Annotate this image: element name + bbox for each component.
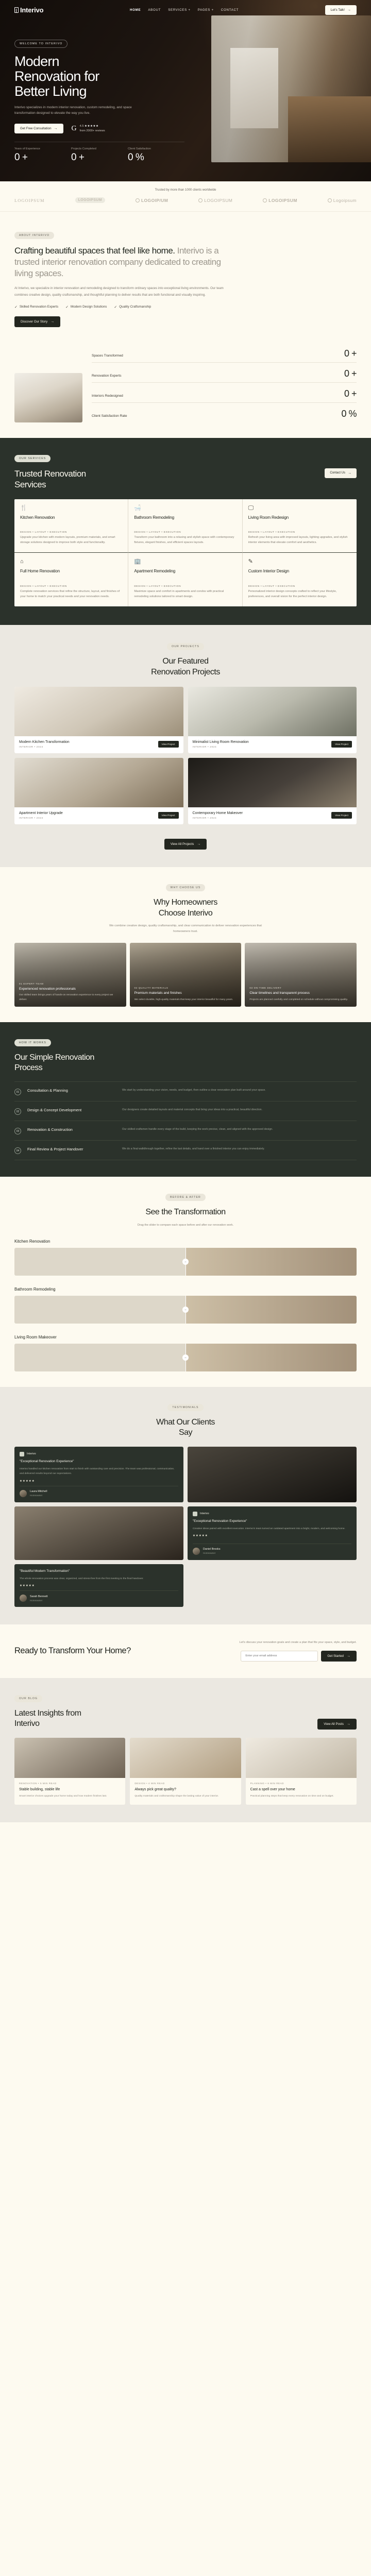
why-card-desc: Our skilled team brings years of hands-o… xyxy=(19,993,122,1002)
projects-tag: OUR PROJECTS xyxy=(167,643,204,650)
counter-row: Renovation Experts 0 + xyxy=(92,363,357,383)
counter-label: Renovation Experts xyxy=(92,374,122,378)
check-icon: ✓ xyxy=(65,305,69,309)
consultation-label: Get Free Consultation xyxy=(20,127,52,130)
stat-projects: Projects Completed 0 + xyxy=(71,147,128,163)
arrow-right-icon: → xyxy=(348,471,351,475)
step-desc: Our skilled craftsmen handle every stage… xyxy=(122,1127,357,1132)
service-title: Bathroom Remodeling xyxy=(134,515,236,520)
why-card-title: Experienced renovation professionals xyxy=(19,987,122,992)
email-input[interactable] xyxy=(241,1651,318,1662)
author-name: Laura Mitchell xyxy=(30,1490,47,1493)
check-item: ✓Skilled Renovation Experts xyxy=(14,305,58,309)
testimonial-quote: "Exceptional Renovation Experience" xyxy=(20,1460,178,1464)
client-logo: LOGOIPSUM xyxy=(14,198,45,203)
blog-desc: Smart interior choices upgrade your home… xyxy=(19,1794,121,1799)
nav-item-services[interactable]: SERVICES + xyxy=(168,8,191,12)
counter-value: 0 % xyxy=(341,409,357,419)
why-lead: We combine creative design, quality craf… xyxy=(100,923,271,935)
arrow-right-icon: → xyxy=(347,1654,350,1658)
arrow-right-icon: → xyxy=(54,127,58,130)
google-icon: G xyxy=(72,125,77,132)
project-title: Modern Kitchen Transformation xyxy=(19,740,70,744)
about-tag: ABOUT INTERIVO xyxy=(14,232,54,239)
stat-label: Client Satisfaction xyxy=(128,147,184,150)
counter-label: Spaces Transformed xyxy=(92,354,123,358)
service-desc: Transform your bathroom into a relaxing … xyxy=(134,535,236,546)
before-after-slider[interactable]: ↔ xyxy=(14,1344,357,1371)
client-logos-section: Trusted by more than 1000 clients worldw… xyxy=(0,181,371,211)
rating-caption: from 2000+ reviews xyxy=(80,129,105,133)
step-number: 02 xyxy=(14,1108,21,1115)
service-title: Living Room Redesign xyxy=(248,515,351,520)
bathtub-icon: 🛁 xyxy=(134,505,236,511)
hero-title-line-3: Better Living xyxy=(14,83,87,99)
stat-years: Years of Experience 0 + xyxy=(14,147,71,163)
service-desc: Personalized interior design concepts cr… xyxy=(248,589,351,600)
monitor-icon: 🖵 xyxy=(248,505,351,511)
project-meta: INTERIOR • 2024 xyxy=(19,745,70,748)
blog-desc: Practical planning steps that keep every… xyxy=(250,1794,352,1799)
testimonial-quote: "Beautiful Modern Transformation" xyxy=(20,1569,178,1574)
hero-eyebrow: WELCOME TO INTERIVO xyxy=(14,40,68,48)
view-all-projects-button[interactable]: View All Projects → xyxy=(164,839,207,850)
service-card-full-home-renovation[interactable]: ⌂ Full Home Renovation DESIGN • LAYOUT •… xyxy=(14,553,128,606)
testimonial-text: The whole renovation process was clear, … xyxy=(20,1577,178,1582)
testimonial-stars: ★★★★★ xyxy=(193,1534,351,1537)
project-image xyxy=(14,687,183,736)
arrow-right-icon: → xyxy=(347,8,351,12)
testimonial-card: Interivo "Exceptional Renovation Experie… xyxy=(188,1506,357,1560)
project-image xyxy=(188,758,357,807)
nav-item-pages[interactable]: PAGES + xyxy=(198,8,214,12)
about-checklist: ✓Skilled Renovation Experts ✓Modern Desi… xyxy=(14,305,357,309)
circle-icon xyxy=(263,198,267,202)
brand-mark-icon xyxy=(20,1452,24,1456)
step-number: 01 xyxy=(14,1089,21,1095)
step-number: 03 xyxy=(14,1128,21,1134)
step-number: 04 xyxy=(14,1147,21,1154)
view-all-posts-button[interactable]: View All Posts → xyxy=(317,1719,357,1730)
cutlery-icon: 🍴 xyxy=(20,505,122,511)
transform-tag: BEFORE & AFTER xyxy=(165,1194,206,1201)
blog-image xyxy=(130,1738,241,1778)
testimonial-text: Interivo handled our kitchen renovation … xyxy=(20,1467,178,1477)
service-desc: Upgrade your kitchen with modern layouts… xyxy=(20,535,122,546)
discover-our-story-button[interactable]: Discover Our Story → xyxy=(14,316,60,327)
nav-item-about[interactable]: ABOUT xyxy=(148,8,161,12)
process-step: 03 Renovation & Construction Our skilled… xyxy=(14,1121,357,1140)
circle-icon xyxy=(198,198,203,202)
service-meta: DESIGN • LAYOUT • EXECUTION xyxy=(248,585,351,587)
blog-card[interactable]: RENOVATION • 5 MIN READ Stable building,… xyxy=(14,1738,125,1805)
check-icon: ✓ xyxy=(114,305,117,309)
before-after-block: Bathroom Remodeling ↔ xyxy=(14,1287,357,1324)
process-step: 04 Final Review & Project Handover We do… xyxy=(14,1140,357,1160)
blog-image xyxy=(14,1738,125,1778)
service-meta: DESIGN • LAYOUT • EXECUTION xyxy=(134,585,236,587)
view-project-chip[interactable]: View Project xyxy=(331,741,352,748)
book-icon xyxy=(14,7,19,13)
why-card: 01 EXPERT TEAM Experienced renovation pr… xyxy=(14,943,126,1007)
logos-row: LOGOIPSUM LOGOIPSUM LOGOIP/UM LOGOIPSUM … xyxy=(14,197,357,203)
hero-title-line-1: Modern xyxy=(14,54,59,69)
hero-title: Modern Renovation for Better Living xyxy=(14,54,171,99)
step-title: Renovation & Construction xyxy=(27,1127,116,1132)
project-card[interactable]: Modern Kitchen Transformation INTERIOR •… xyxy=(14,687,183,753)
view-project-chip[interactable]: View Project xyxy=(331,812,352,819)
why-card-tag: 01 EXPERT TEAM xyxy=(19,982,122,985)
main-navbar: Interivo HOME ABOUT SERVICES + PAGES + C… xyxy=(0,0,371,20)
testimonial-card: "Beautiful Modern Transformation" The wh… xyxy=(14,1564,183,1607)
brand-name: Interivo xyxy=(20,6,43,14)
service-card-bathroom-remodeling[interactable]: 🛁 Bathroom Remodeling DESIGN • LAYOUT • … xyxy=(128,499,242,553)
blog-card[interactable]: PLANNING • 6 MIN READ Cast a spell over … xyxy=(246,1738,357,1805)
why-card-desc: Projects are planned carefully and compl… xyxy=(249,998,352,1002)
rating-value: 4.5 xyxy=(80,125,84,128)
google-rating: G 4.5 ★★★★★ from 2000+ reviews xyxy=(72,124,105,133)
before-after-title: Living Room Makeover xyxy=(14,1335,357,1340)
project-title: Apartment Interior Upgrade xyxy=(19,811,63,815)
rating-stars: ★★★★★ xyxy=(85,125,99,128)
counters-section: Spaces Transformed 0 + Renovation Expert… xyxy=(0,341,371,438)
hero-section: Interivo HOME ABOUT SERVICES + PAGES + C… xyxy=(0,0,371,181)
stat-value: 0 + xyxy=(14,152,71,163)
service-desc: Complete renovation services that refine… xyxy=(20,589,122,600)
step-title: Final Review & Project Handover xyxy=(27,1147,116,1151)
project-title: Minimalist Living Room Renovation xyxy=(193,740,249,744)
process-tag: HOW IT WORKS xyxy=(14,1039,51,1046)
testimonials-grid: Interivo "Exceptional Renovation Experie… xyxy=(14,1447,357,1607)
blog-heading: Latest Insights from Interivo xyxy=(14,1708,81,1730)
lets-talk-label: Let's Talk! xyxy=(331,8,345,12)
process-step: 01 Consultation & Planning We start by u… xyxy=(14,1081,357,1101)
author-name: Daniel Brooks xyxy=(203,1548,221,1551)
service-meta: DESIGN • LAYOUT • EXECUTION xyxy=(134,531,236,533)
why-card-tag: 02 QUALITY MATERIALS xyxy=(134,987,237,989)
services-tag: OUR SERVICES xyxy=(14,455,50,462)
why-card: 02 QUALITY MATERIALS Premium materials a… xyxy=(130,943,242,1007)
testimonial-card: Interivo "Exceptional Renovation Experie… xyxy=(14,1447,183,1502)
blog-section: OUR BLOG Latest Insights from Interivo V… xyxy=(0,1678,371,1822)
building-icon: 🏢 xyxy=(134,559,236,565)
why-card-desc: We select durable, high-quality material… xyxy=(134,998,237,1002)
services-grid: 🍴 Kitchen Renovation DESIGN • LAYOUT • E… xyxy=(14,499,357,606)
step-title: Consultation & Planning xyxy=(27,1088,116,1093)
before-after-block: Living Room Makeover ↔ xyxy=(14,1335,357,1371)
testimonial-author: Sarah Bennett Homeowner xyxy=(20,1590,178,1602)
transform-lead: Drag the slider to compare each space be… xyxy=(108,1223,263,1228)
step-desc: Our designers create detailed layouts an… xyxy=(122,1108,357,1113)
blog-title: Always pick great quality? xyxy=(134,1787,236,1792)
check-icon: ✓ xyxy=(14,305,18,309)
stat-satisfaction: Client Satisfaction 0 % xyxy=(128,147,184,163)
testimonial-author: Daniel Brooks Homeowner xyxy=(193,1544,351,1555)
transform-heading: See the Transformation xyxy=(14,1207,357,1217)
circle-icon xyxy=(328,198,332,202)
arrow-right-icon: → xyxy=(50,320,54,324)
blog-image xyxy=(246,1738,357,1778)
view-project-chip[interactable]: View Project xyxy=(158,741,179,748)
view-project-chip[interactable]: View Project xyxy=(158,812,179,819)
testimonial-brand: Interivo xyxy=(20,1452,178,1456)
avatar xyxy=(193,1548,200,1555)
why-heading: Why Homeowners Choose Interivo xyxy=(14,897,357,919)
about-section: ABOUT INTERIVO Crafting beautiful spaces… xyxy=(0,211,371,341)
author-role: Homeowner xyxy=(30,1599,47,1602)
project-card[interactable]: Minimalist Living Room Renovation INTERI… xyxy=(188,687,357,753)
project-meta: INTERIOR • 2024 xyxy=(193,745,249,748)
avatar xyxy=(20,1490,27,1497)
step-desc: We do a final walkthrough together, refi… xyxy=(122,1147,357,1152)
before-after-title: Bathroom Remodeling xyxy=(14,1287,357,1292)
services-heading: Trusted Renovation Services xyxy=(14,468,86,490)
author-role: Homeowner xyxy=(30,1494,47,1497)
blog-title: Stable building, stable life xyxy=(19,1787,121,1792)
about-body: At Interivo, we specialize in interior r… xyxy=(14,285,226,298)
why-card-title: Clear timelines and transparent process xyxy=(249,991,352,996)
brand-mark-icon xyxy=(193,1512,197,1516)
get-started-button[interactable]: Get Started → xyxy=(321,1651,357,1662)
service-title: Kitchen Renovation xyxy=(20,515,122,520)
step-desc: We start by understanding your vision, n… xyxy=(122,1088,357,1093)
testimonials-section: TESTIMONIALS What Our Clients Say Interi… xyxy=(0,1387,371,1624)
logos-caption: Trusted by more than 1000 clients worldw… xyxy=(14,189,357,192)
service-card-living-room-redesign[interactable]: 🖵 Living Room Redesign DESIGN • LAYOUT •… xyxy=(243,499,357,553)
service-desc: Refresh your living area with improved l… xyxy=(248,535,351,546)
why-card: 03 ON-TIME DELIVERY Clear timelines and … xyxy=(245,943,357,1007)
slider-handle-icon[interactable]: ↔ xyxy=(182,1259,189,1265)
projects-grid: Modern Kitchen Transformation INTERIOR •… xyxy=(14,687,357,824)
cta-heading: Ready to Transform Your Home? xyxy=(14,1646,131,1656)
testimonial-stars: ★★★★★ xyxy=(20,1584,178,1587)
client-logo: LOGOIPSUM xyxy=(198,198,232,203)
before-after-section: BEFORE & AFTER See the Transformation Dr… xyxy=(0,1177,371,1387)
why-card-title: Premium materials and finishes xyxy=(134,991,237,996)
pencil-icon: ✎ xyxy=(248,559,351,565)
brand-logo[interactable]: Interivo xyxy=(14,6,43,14)
counter-value: 0 + xyxy=(344,348,357,359)
blog-grid: RENOVATION • 5 MIN READ Stable building,… xyxy=(14,1738,357,1805)
project-title: Contemporary Home Makeover xyxy=(193,811,243,815)
client-logo: LOGOIP/UM xyxy=(136,198,168,203)
blog-meta: DESIGN • 4 MIN READ xyxy=(134,1782,236,1785)
author-name: Sarah Bennett xyxy=(30,1595,47,1598)
why-card-tag: 03 ON-TIME DELIVERY xyxy=(249,987,352,989)
counter-value: 0 + xyxy=(344,388,357,399)
process-heading: Our Simple Renovation Process xyxy=(14,1053,357,1073)
nav-item-home[interactable]: HOME xyxy=(130,8,141,12)
cta-section: Ready to Transform Your Home? Let's disc… xyxy=(0,1624,371,1678)
stat-label: Years of Experience xyxy=(14,147,71,150)
nav-links: HOME ABOUT SERVICES + PAGES + CONTACT xyxy=(130,8,239,12)
nav-item-contact[interactable]: CONTACT xyxy=(221,8,239,12)
process-step: 02 Design & Concept Development Our desi… xyxy=(14,1101,357,1121)
check-item: ✓Modern Design Solutions xyxy=(65,305,107,309)
projects-heading: Our Featured Renovation Projects xyxy=(14,656,357,677)
before-after-slider[interactable]: ↔ xyxy=(14,1248,357,1276)
blog-title: Cast a spell over your home xyxy=(250,1787,352,1792)
circle-icon xyxy=(136,198,140,202)
stat-label: Projects Completed xyxy=(71,147,128,150)
get-free-consultation-button[interactable]: Get Free Consultation → xyxy=(14,124,63,133)
counter-label: Interiors Redesigned xyxy=(92,394,123,398)
client-logo: Logoipsum xyxy=(328,198,357,203)
testimonial-photo-card xyxy=(188,1447,357,1502)
project-image xyxy=(14,758,183,807)
services-contact-button[interactable]: Contact Us → xyxy=(325,468,357,478)
hero-subtitle: Interivo specializes in modern interior … xyxy=(14,105,136,117)
author-role: Homeowner xyxy=(203,1552,221,1554)
lets-talk-button[interactable]: Let's Talk! → xyxy=(325,5,357,15)
slider-handle-icon[interactable]: ↔ xyxy=(182,1307,189,1313)
testimonials-heading: What Our Clients Say xyxy=(14,1417,357,1438)
service-desc: Maximize space and comfort in apartments… xyxy=(134,589,236,600)
why-grid: 01 EXPERT TEAM Experienced renovation pr… xyxy=(14,943,357,1007)
service-meta: DESIGN • LAYOUT • EXECUTION xyxy=(20,585,122,587)
blog-meta: RENOVATION • 5 MIN READ xyxy=(19,1782,121,1785)
testimonial-author: Laura Mitchell Homeowner xyxy=(20,1486,178,1497)
before-after-slider[interactable]: ↔ xyxy=(14,1296,357,1324)
counter-value: 0 + xyxy=(344,368,357,379)
blog-tag: OUR BLOG xyxy=(14,1695,42,1702)
testimonials-tag: TESTIMONIALS xyxy=(167,1404,203,1411)
testimonial-stars: ★★★★★ xyxy=(20,1480,178,1483)
stat-value: 0 + xyxy=(71,152,128,163)
slider-handle-icon[interactable]: ↔ xyxy=(182,1354,189,1361)
home-icon: ⌂ xyxy=(20,559,122,565)
hero-title-line-2: Renovation for xyxy=(14,69,99,84)
step-title: Design & Concept Development xyxy=(27,1108,116,1112)
service-meta: DESIGN • LAYOUT • EXECUTION xyxy=(248,531,351,533)
testimonial-brand: Interivo xyxy=(193,1512,351,1516)
service-card-custom-interior-design[interactable]: ✎ Custom Interior Design DESIGN • LAYOUT… xyxy=(243,553,357,606)
before-after-block: Kitchen Renovation ↔ xyxy=(14,1239,357,1276)
testimonial-text: Creative ideas paired with excellent exe… xyxy=(193,1527,351,1532)
services-section: OUR SERVICES Trusted Renovation Services… xyxy=(0,438,371,625)
arrow-right-icon: → xyxy=(197,842,200,846)
service-card-kitchen-renovation[interactable]: 🍴 Kitchen Renovation DESIGN • LAYOUT • E… xyxy=(14,499,128,553)
cta-text: Let's discuss your renovation goals and … xyxy=(240,1640,357,1646)
project-card[interactable]: Apartment Interior Upgrade INTERIOR • 20… xyxy=(14,758,183,824)
why-choose-section: WHY CHOOSE US Why Homeowners Choose Inte… xyxy=(0,867,371,1022)
blog-card[interactable]: DESIGN • 4 MIN READ Always pick great qu… xyxy=(130,1738,241,1805)
client-logo: LOGOIPSUM xyxy=(263,198,297,203)
blog-desc: Quality materials and craftsmanship shap… xyxy=(134,1794,236,1799)
counter-row: Spaces Transformed 0 + xyxy=(92,343,357,363)
counters-list: Spaces Transformed 0 + Renovation Expert… xyxy=(92,343,357,422)
projects-section: OUR PROJECTS Our Featured Renovation Pro… xyxy=(0,625,371,867)
counters-thumbnail xyxy=(14,373,82,422)
testimonial-photo-card xyxy=(14,1506,183,1560)
process-section: HOW IT WORKS Our Simple Renovation Proce… xyxy=(0,1022,371,1177)
project-meta: INTERIOR • 2024 xyxy=(193,817,243,819)
check-item: ✓Quality Craftsmanship xyxy=(114,305,151,309)
client-logo: LOGOIPSUM xyxy=(75,197,105,203)
arrow-right-icon: → xyxy=(347,1722,350,1726)
project-meta: INTERIOR • 2024 xyxy=(19,817,63,819)
project-card[interactable]: Contemporary Home Makeover INTERIOR • 20… xyxy=(188,758,357,824)
counter-row: Client Satisfaction Rate 0 % xyxy=(92,403,357,422)
stat-value: 0 % xyxy=(128,152,184,163)
about-heading-strong: Crafting beautiful spaces that feel like… xyxy=(14,246,175,256)
service-title: Custom Interior Design xyxy=(248,569,351,573)
hero-stats: Years of Experience 0 + Projects Complet… xyxy=(14,142,184,163)
project-image xyxy=(188,687,357,736)
service-title: Full Home Renovation xyxy=(20,569,122,573)
before-after-title: Kitchen Renovation xyxy=(14,1239,357,1244)
avatar xyxy=(20,1595,27,1602)
testimonial-quote: "Exceptional Renovation Experience" xyxy=(193,1519,351,1524)
counter-row: Interiors Redesigned 0 + xyxy=(92,383,357,403)
service-meta: DESIGN • LAYOUT • EXECUTION xyxy=(20,531,122,533)
why-tag: WHY CHOOSE US xyxy=(166,884,206,891)
service-card-apartment-remodeling[interactable]: 🏢 Apartment Remodeling DESIGN • LAYOUT •… xyxy=(128,553,242,606)
service-title: Apartment Remodeling xyxy=(134,569,236,573)
blog-meta: PLANNING • 6 MIN READ xyxy=(250,1782,352,1785)
counter-label: Client Satisfaction Rate xyxy=(92,414,127,418)
about-heading: Crafting beautiful spaces that feel like… xyxy=(14,245,231,279)
